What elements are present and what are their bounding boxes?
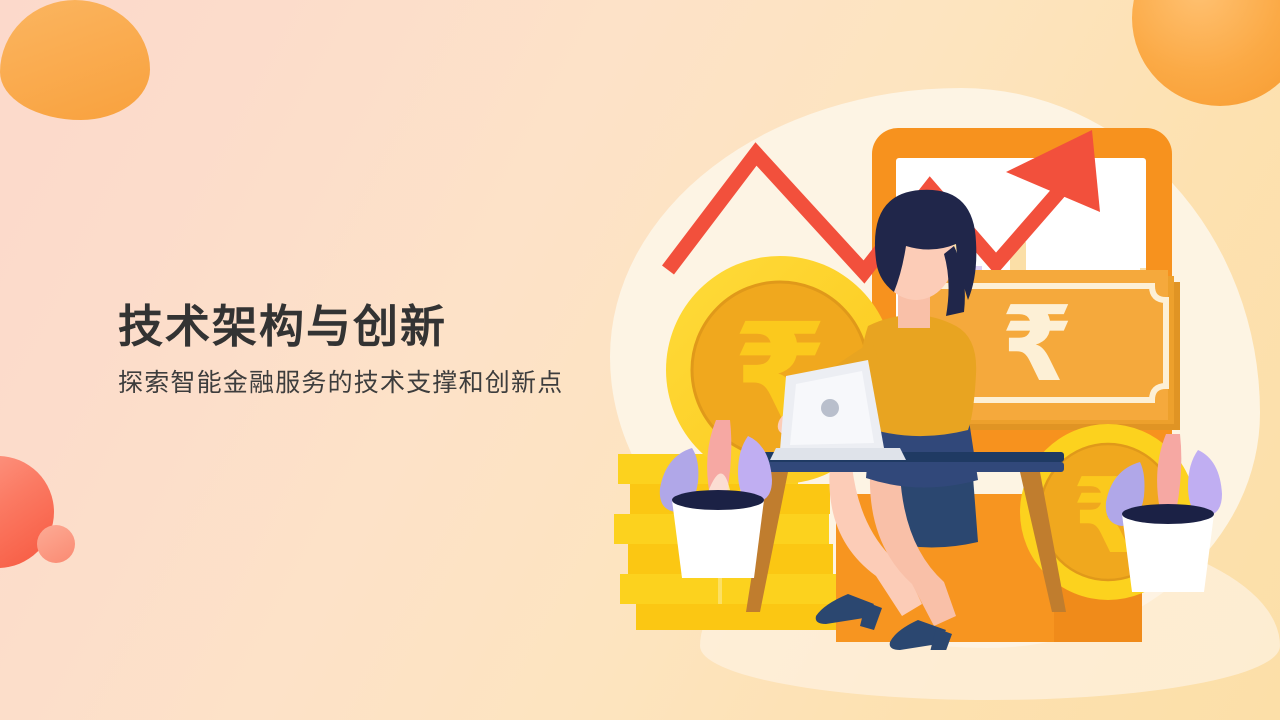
page-title: 技术架构与创新	[118, 300, 638, 353]
page-subtitle: 探索智能金融服务的技术支撑和创新点	[118, 367, 638, 400]
decor-circle-left-small	[37, 525, 75, 563]
title-block: 技术架构与创新 探索智能金融服务的技术支撑和创新点	[118, 300, 638, 400]
financial-technology-illustration: ₹ ₹ ₹	[600, 90, 1280, 650]
presentation-slide: 技术架构与创新 探索智能金融服务的技术支撑和创新点	[0, 0, 1280, 720]
rupee-symbol-banknote: ₹	[1001, 283, 1073, 405]
decor-blob-top-right	[0, 0, 150, 120]
